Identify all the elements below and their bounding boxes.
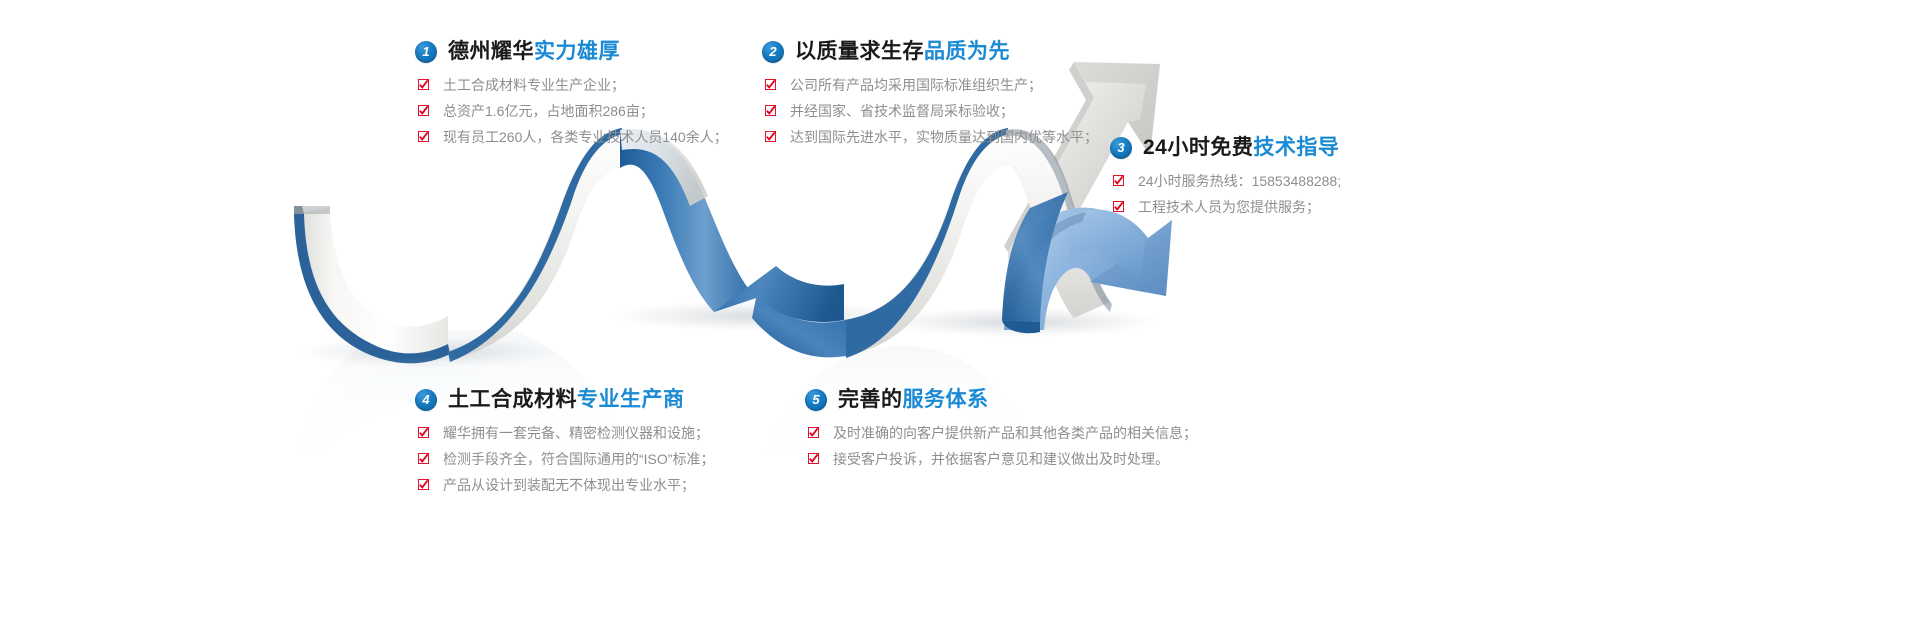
feature-1-title-highlight: 实力雄厚 (534, 40, 620, 63)
check-icon (418, 105, 429, 116)
badge-number-5: 5 (805, 389, 827, 411)
feature-2-list: 公司所有产品均采用国际标准组织生产； 并经国家、省技术监督局采标验收； 达到国际… (762, 72, 1098, 150)
list-item-text: 及时准确的向客户提供新产品和其他各类产品的相关信息； (833, 426, 1197, 440)
list-item-text: 24小时服务热线：15853488288; (1138, 174, 1341, 188)
check-icon (765, 131, 776, 142)
feature-1-title-main: 德州耀华 (448, 40, 534, 63)
check-icon (1113, 175, 1124, 186)
check-icon (418, 427, 429, 438)
ribbon-segment-crest1-blue (620, 129, 756, 312)
feature-4-title-highlight: 专业生产商 (577, 388, 685, 411)
list-item: 及时准确的向客户提供新产品和其他各类产品的相关信息； (805, 420, 1197, 446)
check-icon (808, 427, 819, 438)
ribbon-edge-left (294, 214, 450, 363)
list-item-text: 接受客户投诉，并依据客户意见和建议做出及时处理。 (833, 452, 1169, 466)
ribbon-lip-trough2 (752, 298, 846, 357)
feature-2-heading: 2 以质量求生存品质为先 (762, 40, 1098, 63)
list-item-text: 现有员工260人，各类专业技术人员140余人； (443, 130, 728, 144)
list-item-text: 并经国家、省技术监督局采标验收； (790, 104, 1014, 118)
list-item-text: 耀华拥有一套完备、精密检测仪器和设施； (443, 426, 709, 440)
list-item: 公司所有产品均采用国际标准组织生产； (762, 72, 1098, 98)
list-item: 并经国家、省技术监督局采标验收； (762, 98, 1098, 124)
list-item: 土工合成材料专业生产企业； (415, 72, 728, 98)
feature-block-5: 5 完善的服务体系 及时准确的向客户提供新产品和其他各类产品的相关信息； 接受客… (805, 388, 1197, 472)
list-item-text: 达到国际先进水平，实物质量达到国内优等水平； (790, 130, 1098, 144)
list-item: 工程技术人员为您提供服务； (1110, 194, 1341, 220)
list-item: 现有员工260人，各类专业技术人员140余人； (415, 124, 728, 150)
feature-5-title: 完善的服务体系 (838, 388, 989, 411)
feature-3-title-highlight: 技术指导 (1253, 136, 1339, 159)
feature-1-list: 土工合成材料专业生产企业； 总资产1.6亿元，占地面积286亩； 现有员工260… (415, 72, 728, 150)
feature-block-3: 3 24小时免费技术指导 24小时服务热线：15853488288; 工程技术人… (1110, 136, 1341, 220)
feature-3-list: 24小时服务热线：15853488288; 工程技术人员为您提供服务； (1110, 168, 1341, 220)
ribbon-segment-trough2-blue (714, 266, 844, 322)
feature-4-list: 耀华拥有一套完备、精密检测仪器和设施； 检测手段齐全，符合国际通用的“ISO”标… (415, 420, 714, 498)
feature-1-title: 德州耀华实力雄厚 (448, 40, 620, 63)
list-item: 产品从设计到装配无不体现出专业水平； (415, 472, 714, 498)
ribbon-edge-crest2 (844, 128, 1008, 358)
badge-number-3: 3 (1110, 137, 1132, 159)
feature-5-heading: 5 完善的服务体系 (805, 388, 1197, 411)
badge-number-4: 4 (415, 389, 437, 411)
ribbon-blue-underside-right (1002, 192, 1068, 322)
check-icon (765, 79, 776, 90)
ribbon-front-crossing-edge (1006, 129, 1112, 312)
list-item-text: 检测手段齐全，符合国际通用的“ISO”标准； (443, 452, 714, 466)
list-item: 检测手段齐全，符合国际通用的“ISO”标准； (415, 446, 714, 472)
feature-2-title-main: 以质量求生存 (795, 40, 924, 63)
feature-3-title-main: 24小时免费 (1143, 136, 1253, 159)
check-icon (418, 453, 429, 464)
list-item: 接受客户投诉，并依据客户意见和建议做出及时处理。 (805, 446, 1197, 472)
list-item-text: 总资产1.6亿元，占地面积286亩； (443, 104, 654, 118)
feature-4-heading: 4 土工合成材料专业生产商 (415, 388, 714, 411)
feature-3-title: 24小时免费技术指导 (1143, 136, 1339, 159)
check-icon (765, 105, 776, 116)
feature-5-title-main: 完善的 (838, 388, 903, 411)
feature-block-2: 2 以质量求生存品质为先 公司所有产品均采用国际标准组织生产； 并经国家、省技术… (762, 40, 1098, 150)
feature-4-title-main: 土工合成材料 (448, 388, 577, 411)
feature-block-4: 4 土工合成材料专业生产商 耀华拥有一套完备、精密检测仪器和设施； 检测手段齐全… (415, 388, 714, 498)
list-item-text: 产品从设计到装配无不体现出专业水平； (443, 478, 695, 492)
list-item: 24小时服务热线：15853488288; (1110, 168, 1341, 194)
badge-number-1: 1 (415, 41, 437, 63)
check-icon (808, 453, 819, 464)
check-icon (418, 131, 429, 142)
ground-shadow (300, 301, 1160, 368)
feature-1-heading: 1 德州耀华实力雄厚 (415, 40, 728, 63)
ribbon-segment-crest2-silver (844, 130, 1006, 356)
ribbon-segment-rise1-silver (448, 130, 620, 360)
feature-3-heading: 3 24小时免费技术指导 (1110, 136, 1341, 159)
feature-5-list: 及时准确的向客户提供新产品和其他各类产品的相关信息； 接受客户投诉，并依据客户意… (805, 420, 1197, 472)
badge-number-2: 2 (762, 41, 784, 63)
list-item-text: 公司所有产品均采用国际标准组织生产； (790, 78, 1042, 92)
list-item: 总资产1.6亿元，占地面积286亩； (415, 98, 728, 124)
list-item-text: 工程技术人员为您提供服务； (1138, 200, 1320, 214)
feature-block-1: 1 德州耀华实力雄厚 土工合成材料专业生产企业； 总资产1.6亿元，占地面积28… (415, 40, 728, 150)
ribbon-front-crossing-silver (1006, 129, 1110, 318)
feature-2-title: 以质量求生存品质为先 (795, 40, 1010, 63)
list-item: 耀华拥有一套完备、精密检测仪器和设施； (415, 420, 714, 446)
ribbon-segment-left-silver (294, 208, 448, 361)
feature-4-title: 土工合成材料专业生产商 (448, 388, 685, 411)
ribbon-edge-rise1 (448, 128, 622, 362)
check-icon (1113, 201, 1124, 212)
feature-5-title-highlight: 服务体系 (903, 388, 989, 411)
promo-banner: 1 德州耀华实力雄厚 土工合成材料专业生产企业； 总资产1.6亿元，占地面积28… (0, 0, 1920, 635)
feature-2-title-highlight: 品质为先 (924, 40, 1010, 63)
check-icon (418, 479, 429, 490)
list-item-text: 土工合成材料专业生产企业； (443, 78, 625, 92)
list-item: 达到国际先进水平，实物质量达到国内优等水平； (762, 124, 1098, 150)
check-icon (418, 79, 429, 90)
